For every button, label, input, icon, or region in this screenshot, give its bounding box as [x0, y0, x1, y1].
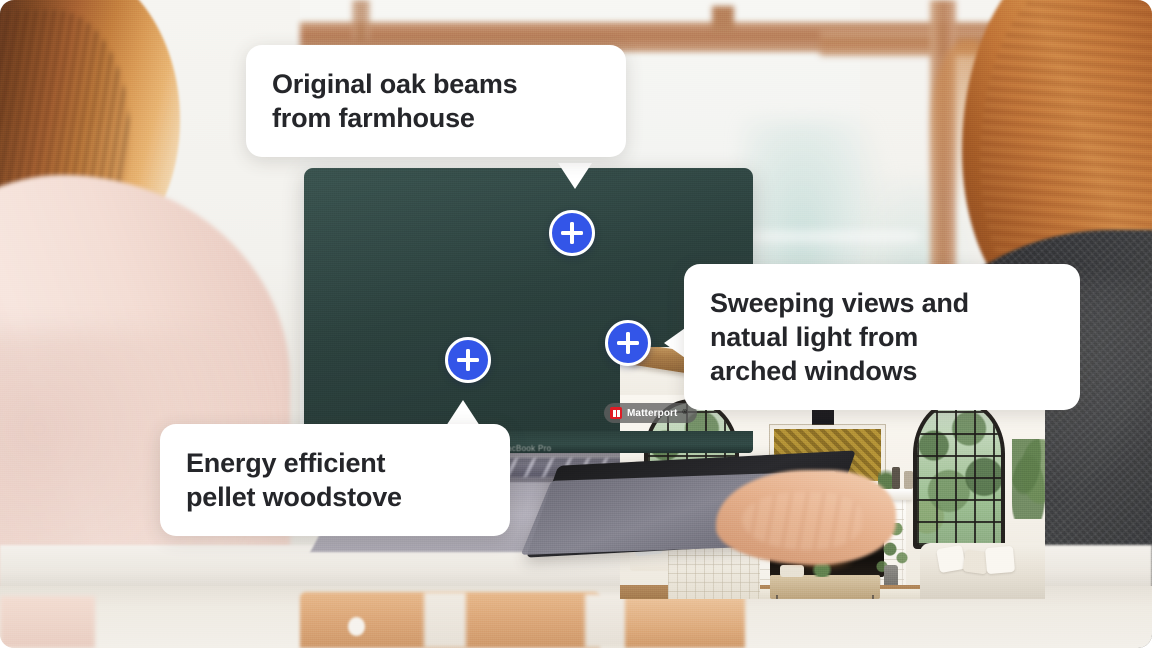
sofa-pillow — [985, 546, 1015, 574]
callout-windows-text: Sweeping views and natual light from arc… — [710, 286, 1054, 388]
trademark-symbol: ® — [682, 410, 686, 416]
plus-icon — [466, 349, 470, 371]
callout-stove-text: Energy efficient pellet woodstove — [186, 446, 484, 514]
mantel-object — [904, 471, 913, 489]
window-latch — [712, 6, 734, 32]
potted-palm — [1012, 439, 1045, 519]
chair-slat-gap — [424, 592, 466, 648]
callout-beams-text: Original oak beams from farmhouse — [272, 67, 600, 135]
matterport-watermark[interactable]: Matterport ® — [604, 403, 697, 423]
wooden-chair-2 — [625, 596, 745, 648]
hotspot-plus-stove[interactable] — [445, 337, 491, 383]
plus-icon — [570, 222, 574, 244]
callout-beams[interactable]: Original oak beams from farmhouse — [246, 45, 626, 157]
right-person-fingers — [742, 492, 862, 550]
callout-tail-stove — [446, 400, 480, 426]
chair-backrest-hole — [348, 617, 365, 636]
arched-window-right — [913, 399, 1005, 549]
mantel-object — [892, 467, 900, 489]
hotspot-plus-beams[interactable] — [549, 210, 595, 256]
window-mullion-vertical-2 — [352, 0, 370, 40]
hotspot-plus-windows[interactable] — [605, 320, 651, 366]
matterport-brand-label: Matterport — [627, 408, 677, 419]
coffee-table-legs — [776, 595, 874, 599]
sofa-pillow — [936, 545, 966, 573]
screenshot-stage: MacBook Pro Matterport ® Original oak be… — [0, 0, 1152, 648]
plus-icon — [626, 332, 630, 354]
coffee-table-books — [780, 565, 804, 577]
callout-stove[interactable]: Energy efficient pellet woodstove — [160, 424, 510, 536]
callout-windows[interactable]: Sweeping views and natual light from arc… — [684, 264, 1080, 410]
matterport-logo-icon — [610, 407, 622, 419]
window-panes — [917, 403, 1001, 545]
left-person-lap — [0, 596, 95, 648]
callout-tail-beams — [558, 163, 592, 189]
